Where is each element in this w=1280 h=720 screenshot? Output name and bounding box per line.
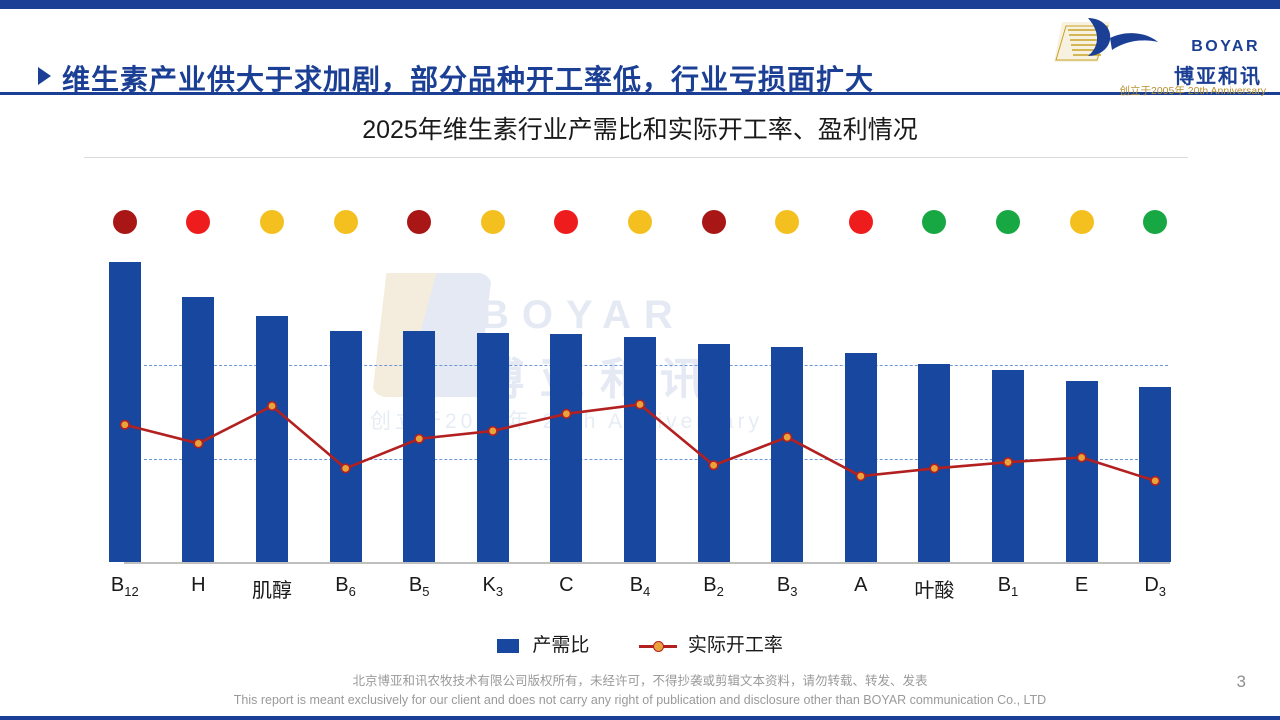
logo-tagline: 创立于2005年 20th Anniversary — [1054, 83, 1266, 98]
bar-H — [182, 297, 214, 562]
bar-D3 — [1139, 387, 1171, 562]
page-number: 3 — [1237, 672, 1246, 692]
footer-copyright-cn: 北京博亚和讯农牧技术有限公司版权所有，未经许可，不得抄袭或剪辑文本资料，请勿转载… — [0, 672, 1280, 691]
x-tick-label-D3: D3 — [1105, 574, 1205, 599]
bar-B1 — [992, 370, 1024, 562]
status-dot-A — [849, 210, 873, 234]
bar-K3 — [477, 333, 509, 562]
logo-text-en: BOYAR — [1191, 38, 1260, 56]
status-dot-D3 — [1143, 210, 1167, 234]
status-dot-B5 — [407, 210, 431, 234]
bar-B5 — [403, 331, 435, 562]
legend-item-bar: 产需比 — [497, 630, 589, 657]
chart-title-divider — [84, 157, 1188, 158]
status-dot-B4 — [628, 210, 652, 234]
legend-label-bar: 产需比 — [532, 635, 589, 656]
reference-line-1 — [144, 365, 1168, 366]
chart-legend: 产需比 实际开工率 — [0, 630, 1280, 657]
title-arrow-icon — [38, 67, 51, 85]
status-dot-B3 — [775, 210, 799, 234]
bar-肌醇 — [256, 316, 288, 562]
status-dot-C — [554, 210, 578, 234]
bar-B2 — [698, 344, 730, 562]
chart-title: 2025年维生素行业产需比和实际开工率、盈利情况 — [0, 110, 1280, 146]
top-accent-bar — [0, 0, 1280, 9]
bar-A — [845, 353, 877, 562]
slide: 维生素产业供大于求加剧，部分品种开工率低，行业亏损面扩大 BOYAR 博亚和讯 … — [0, 0, 1280, 720]
bar-C — [550, 334, 582, 562]
status-dot-H — [186, 210, 210, 234]
footer-copyright-en: This report is meant exclusively for our… — [0, 691, 1280, 710]
status-dot-B1 — [996, 210, 1020, 234]
bar-叶酸 — [918, 364, 950, 562]
status-dot-E — [1070, 210, 1094, 234]
footer: 北京博亚和讯农牧技术有限公司版权所有，未经许可，不得抄袭或剪辑文本资料，请勿转载… — [0, 672, 1280, 710]
status-dot-B12 — [113, 210, 137, 234]
chart-plot-area: B12H肌醇B6B5K3CB4B2B3A叶酸B1ED3 — [84, 170, 1188, 570]
status-dot-B6 — [334, 210, 358, 234]
status-dot-叶酸 — [922, 210, 946, 234]
bar-E — [1066, 381, 1098, 562]
bar-B12 — [109, 262, 141, 562]
x-axis-line — [124, 562, 1170, 564]
legend-swatch-line-icon — [639, 640, 677, 652]
status-dot-B2 — [702, 210, 726, 234]
status-dot-K3 — [481, 210, 505, 234]
legend-swatch-bar-icon — [497, 639, 519, 653]
bar-B3 — [771, 347, 803, 562]
bar-B6 — [330, 331, 362, 562]
legend-label-line: 实际开工率 — [688, 635, 783, 656]
bar-B4 — [624, 337, 656, 562]
brand-logo: BOYAR 博亚和讯 创立于2005年 20th Anniversary — [1054, 16, 1266, 100]
legend-item-line: 实际开工率 — [639, 630, 783, 657]
status-dot-肌醇 — [260, 210, 284, 234]
